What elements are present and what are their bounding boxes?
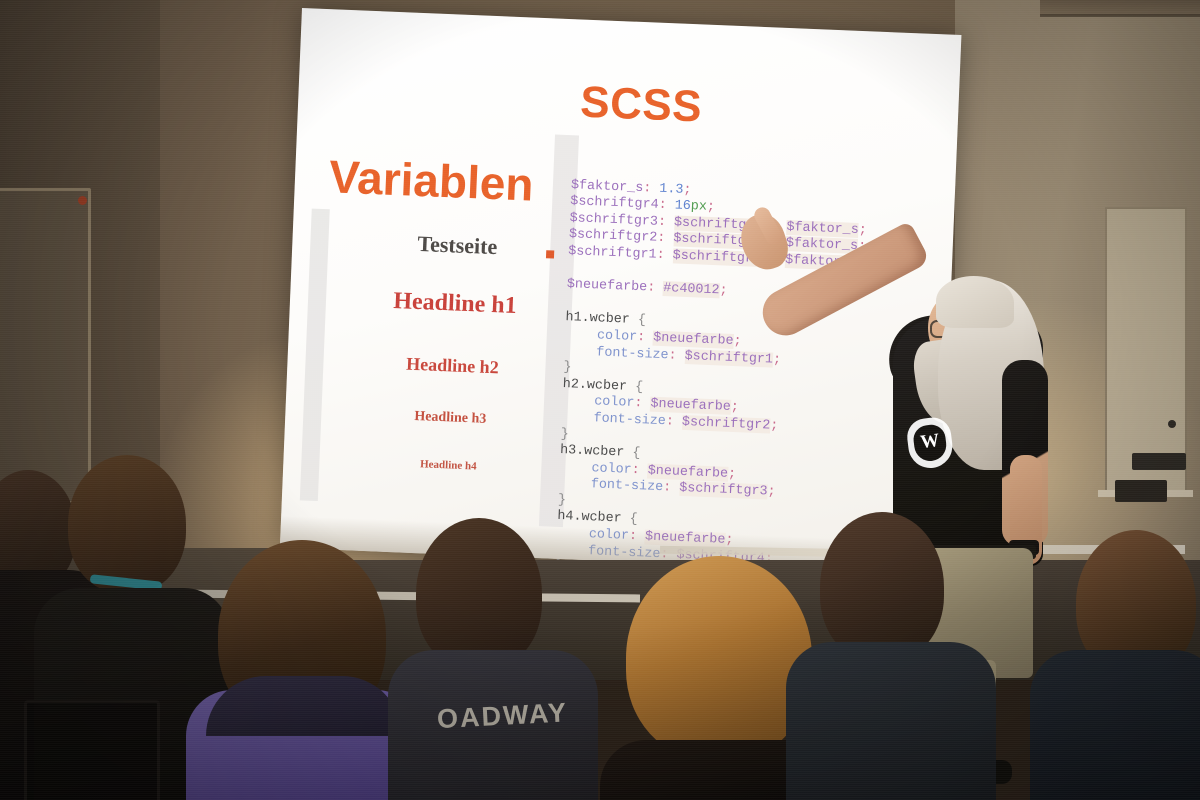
sample-headline-h1: Headline h1 [360,287,551,322]
audience-body-dark-hoodie [786,642,996,800]
whiteboard-right-knob-icon [1168,420,1176,428]
chair-left [24,700,160,800]
audience-head-dark-hoodie [820,512,944,662]
whiteboard-left [0,188,91,504]
audience-head-broadway [416,518,542,670]
whiteboard-right-tray [1132,453,1186,470]
presenter-hair-top [936,276,1014,328]
slide-section-heading: Variablen [328,149,535,211]
ceiling-shadow-line [1040,14,1200,17]
audience-hood-purple [206,676,402,736]
whiteboard-left-knob-icon [78,196,87,205]
audience-body-shaved [1030,650,1200,800]
sample-headline-h4: Headline h4 [353,455,543,475]
presentation-photo-scene: SCSS Variablen Testseite Headline h1 Hea… [0,0,1200,800]
audience-head-short-hair-lanyard [68,455,186,593]
audience-head-blonde [626,556,812,760]
slide-title: SCSS [579,78,703,133]
slide-code-block: $faktor_s: 1.3; $schriftgr4: 16px; $schr… [555,161,869,588]
shirt-logo-letter: W [914,426,945,457]
sample-testseite: Testseite [362,229,553,263]
wall-outlet-icon [1115,480,1167,502]
sample-headline-h2: Headline h2 [357,352,548,381]
slide-bullet-marker-icon [546,250,554,258]
slide-band-left [300,209,330,501]
sample-headline-h3: Headline h3 [355,407,545,431]
projection-screen: SCSS Variablen Testseite Headline h1 Hea… [279,8,969,585]
slide-sample-column: Testseite Headline h1 Headline h2 Headli… [353,229,553,476]
